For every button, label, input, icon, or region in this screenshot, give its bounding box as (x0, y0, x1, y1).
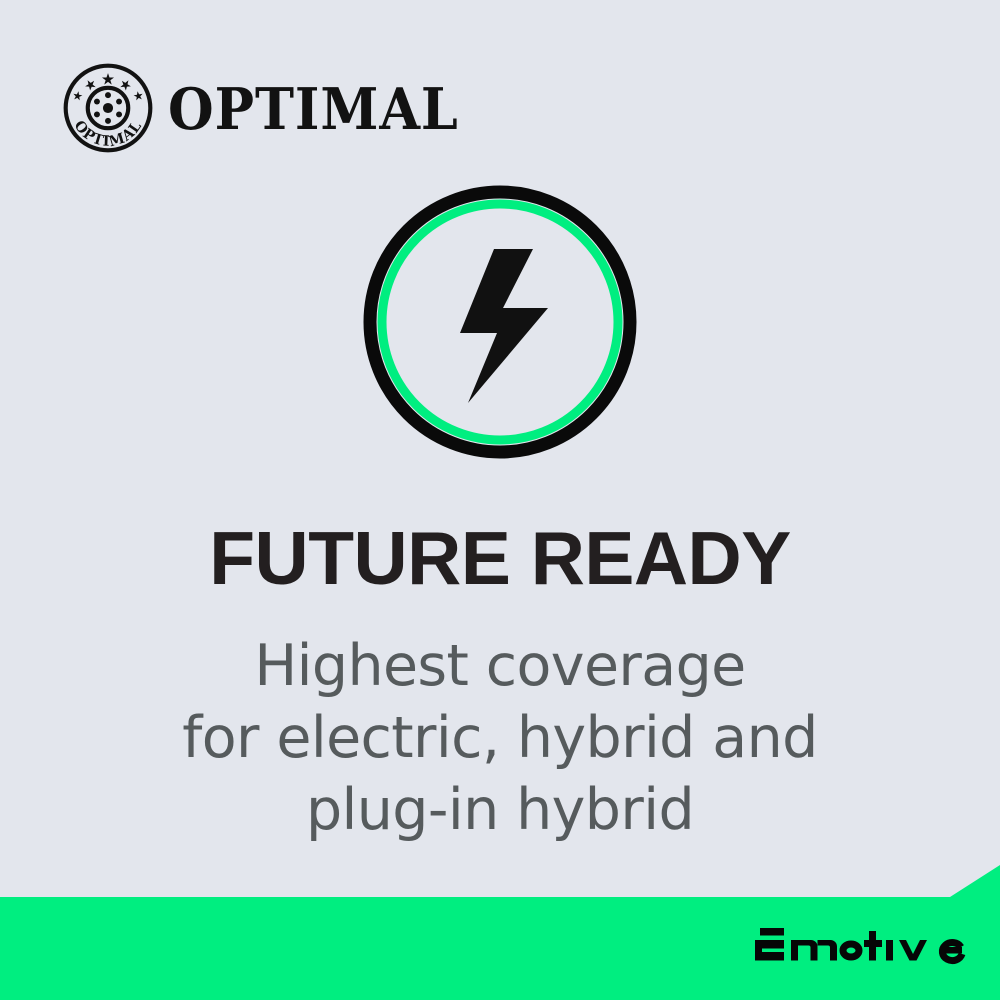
subcopy-line: plug-in hybrid (0, 774, 1000, 846)
brand-lockup: OPTIMAL OPTIMAL (62, 62, 484, 154)
emotive-logo-text: Emotive (753, 971, 756, 972)
subcopy-line: for electric, hybrid and (0, 702, 1000, 774)
brand-wordmark: OPTIMAL (168, 81, 459, 138)
optimal-badge-emblem-icon: OPTIMAL (62, 62, 154, 154)
subcopy-block: Highest coverage for electric, hybrid an… (0, 630, 1000, 846)
subcopy-line: Highest coverage (0, 630, 1000, 702)
page-title: FUTURE READY (0, 521, 1000, 596)
lightning-bolt-in-circle-icon (363, 185, 637, 459)
poster-canvas: OPTIMAL OPTIMAL FUTURE READY Highest cov… (0, 0, 1000, 1000)
hero-icon (363, 185, 637, 459)
emotive-wordmark-logo: Emotive (753, 922, 968, 974)
